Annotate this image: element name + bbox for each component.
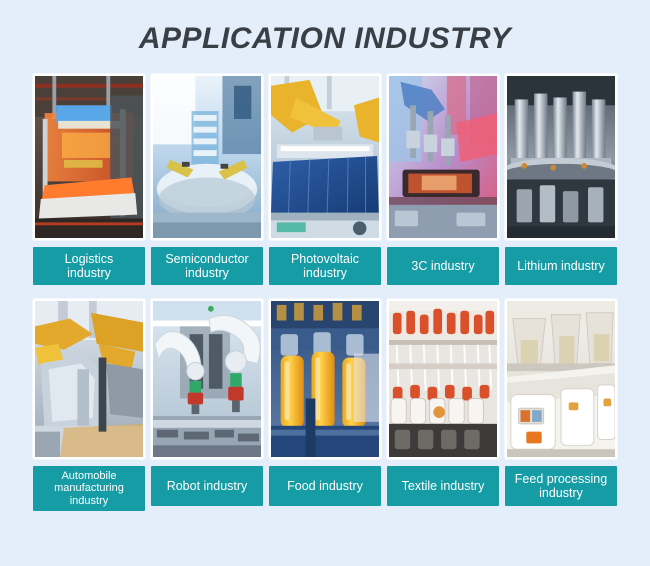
label-line-1: Semiconductor xyxy=(165,252,248,266)
industry-cell-textile[interactable]: Textile industry xyxy=(387,299,499,511)
label-textile: Textile industry xyxy=(387,466,499,506)
photovoltaic-robot-arm-photo xyxy=(269,74,381,240)
label-food: Food industry xyxy=(269,466,381,506)
industry-cell-3c[interactable]: 3C industry xyxy=(387,74,499,285)
beverage-bottling-line-photo xyxy=(269,299,381,459)
label-semiconductor: Semiconductor industry xyxy=(151,247,263,285)
label-line-2: industry xyxy=(67,266,111,280)
label-line-3: industry xyxy=(70,495,109,507)
label-robot: Robot industry xyxy=(151,466,263,506)
industry-cell-food[interactable]: Food industry xyxy=(269,299,381,511)
label-photovoltaic: Photovoltaic industry xyxy=(269,247,381,285)
label-line-1: 3C industry xyxy=(411,259,474,274)
label-lithium: Lithium industry xyxy=(505,247,617,285)
label-line-1: Photovoltaic xyxy=(291,252,359,266)
label-line-2: industry xyxy=(539,486,583,500)
label-line-1: Food industry xyxy=(287,479,363,494)
label-line-1: Automobile xyxy=(61,470,116,482)
label-line-1: Logistics xyxy=(65,252,114,266)
label-feed-processing: Feed processing industry xyxy=(505,466,617,506)
semiconductor-wafer-photo xyxy=(151,74,263,240)
logistics-conveyor-photo xyxy=(33,74,145,240)
label-line-1: Feed processing xyxy=(515,472,607,486)
industry-cell-logistics[interactable]: Logistics industry xyxy=(33,74,145,285)
industry-cell-robot[interactable]: Robot industry xyxy=(151,299,263,511)
label-line-2: industry xyxy=(303,266,347,280)
cobot-arms-photo xyxy=(151,299,263,459)
industry-cell-lithium[interactable]: Lithium industry xyxy=(505,74,617,285)
industry-cell-semiconductor[interactable]: Semiconductor industry xyxy=(151,74,263,285)
label-logistics: Logistics industry xyxy=(33,247,145,285)
industry-grid: Logistics industry xyxy=(33,54,617,511)
textile-spinning-machine-photo xyxy=(387,299,499,459)
automobile-welding-robot-photo xyxy=(33,299,145,459)
page-title: APPLICATION INDUSTRY xyxy=(0,0,650,54)
label-line-1: Lithium industry xyxy=(517,259,605,274)
industry-cell-automobile[interactable]: Automobile manufacturing industry xyxy=(33,299,145,511)
industry-cell-photovoltaic[interactable]: Photovoltaic industry xyxy=(269,74,381,285)
lithium-battery-machine-photo xyxy=(505,74,617,240)
industry-row-2: Automobile manufacturing industry xyxy=(33,299,617,511)
label-3c: 3C industry xyxy=(387,247,499,285)
industry-cell-feed-processing[interactable]: Feed processing industry xyxy=(505,299,617,511)
industry-row-1: Logistics industry xyxy=(33,74,617,285)
3c-electronics-assembly-photo xyxy=(387,74,499,240)
label-line-1: Robot industry xyxy=(167,479,248,494)
label-line-1: Textile industry xyxy=(402,479,485,494)
label-automobile: Automobile manufacturing industry xyxy=(33,466,145,511)
feed-processing-mill-photo xyxy=(505,299,617,459)
label-line-2: manufacturing xyxy=(54,482,124,494)
label-line-2: industry xyxy=(185,266,229,280)
application-industry-page: APPLICATION INDUSTRY xyxy=(0,0,650,566)
